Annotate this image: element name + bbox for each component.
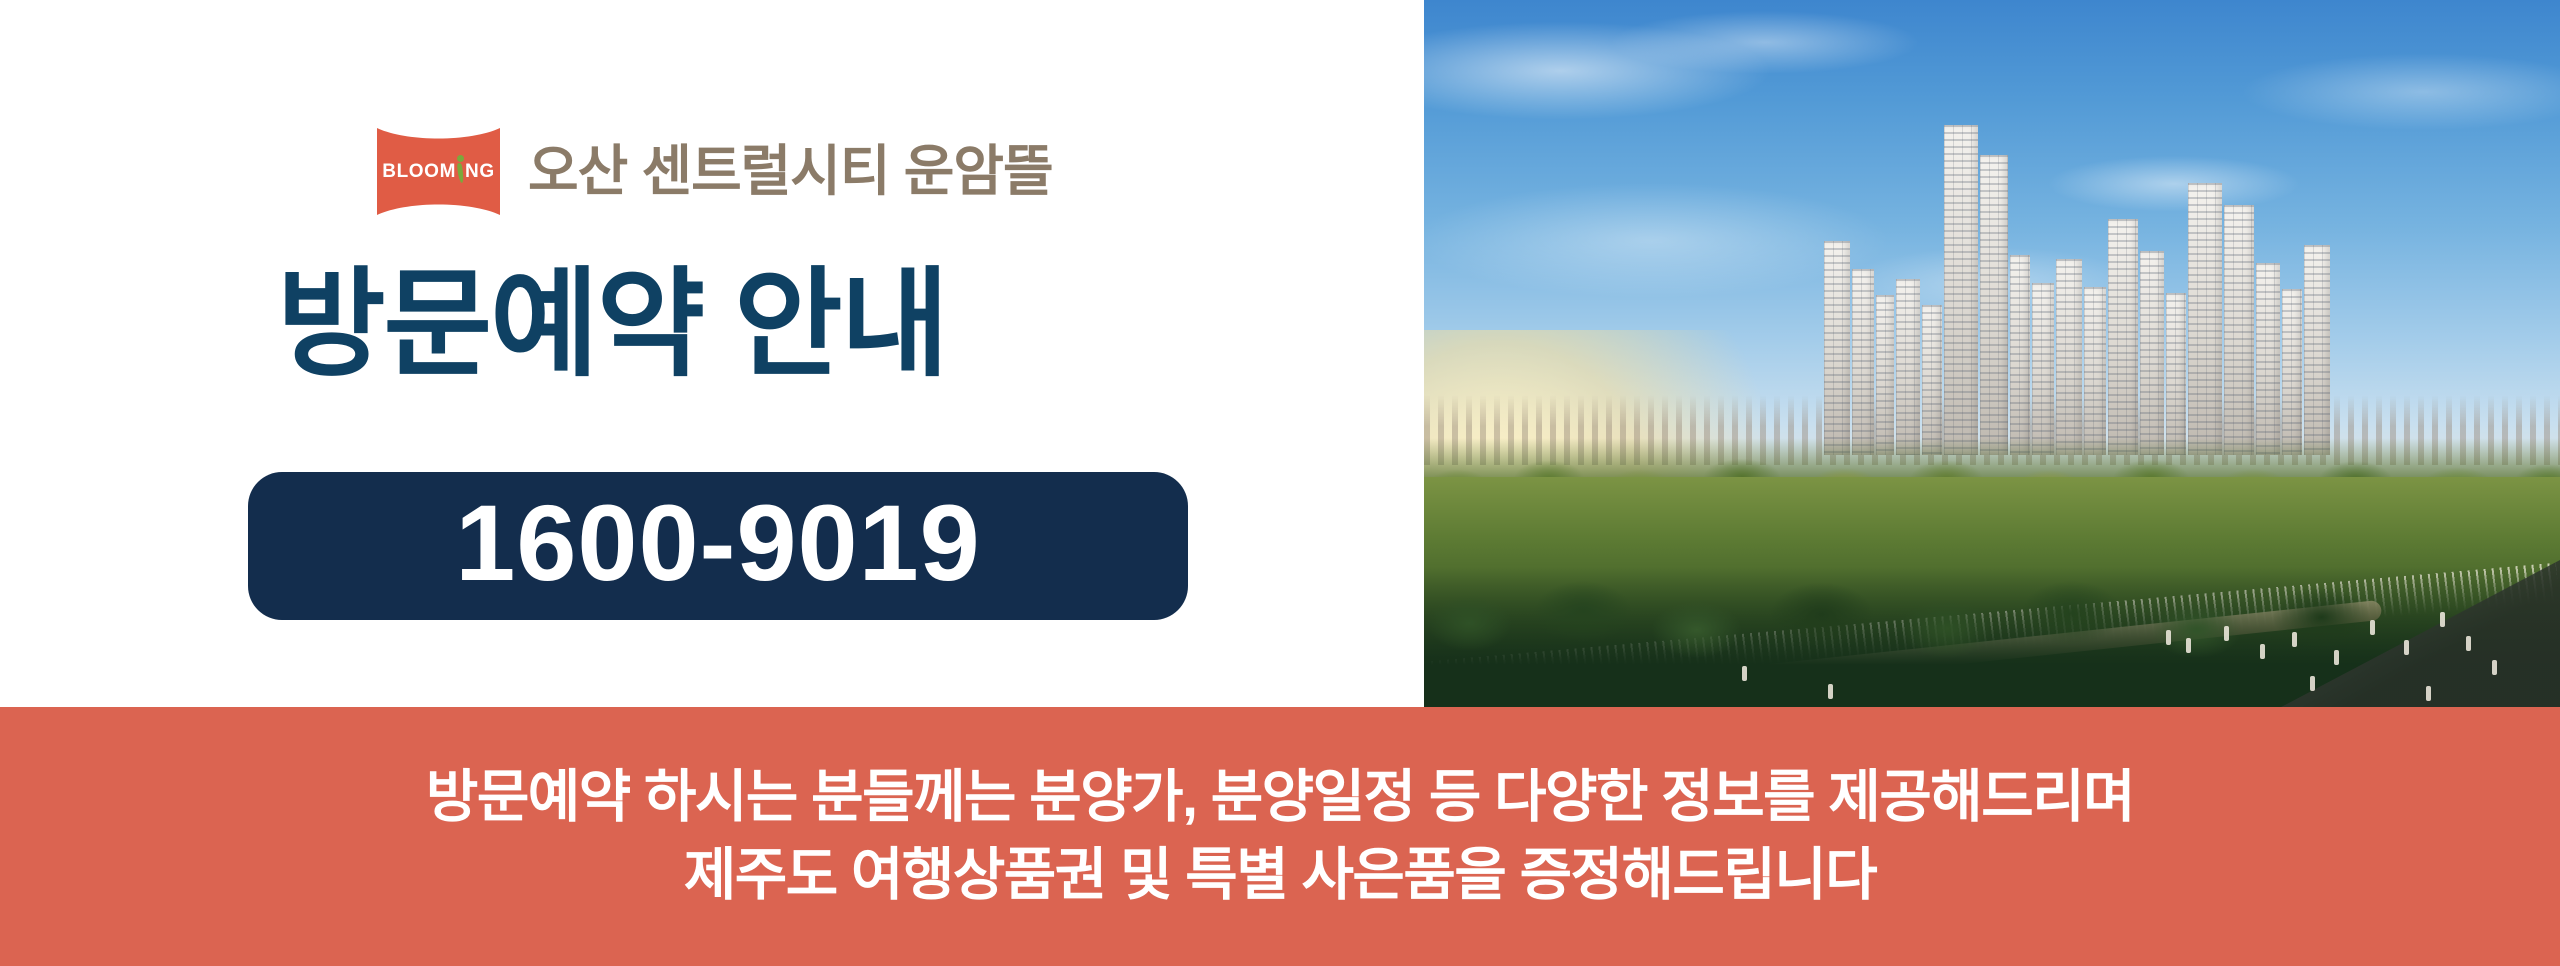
tower (2256, 263, 2280, 455)
tower (2140, 251, 2164, 455)
visit-reservation-banner: BLOOM NG 오산 센트럴시티 운암뜰 방문예약 안내 1600-9019 (0, 0, 2560, 966)
person-figure (2370, 620, 2375, 635)
tower (2032, 283, 2054, 455)
left-info-panel: BLOOM NG 오산 센트럴시티 운암뜰 방문예약 안내 1600-9019 (0, 0, 1424, 707)
person-figure (2260, 644, 2265, 659)
promo-banner: 방문예약 하시는 분들께는 분양가, 분양일정 등 다양한 정보를 제공해드리며… (0, 707, 2560, 966)
tower (1824, 241, 1850, 455)
page-title: 방문예약 안내 (277, 262, 947, 389)
phone-number[interactable]: 1600-9019 (455, 489, 980, 597)
blooming-logo-badge: BLOOM NG (377, 128, 500, 215)
project-rendering-image (1424, 0, 2560, 707)
person-figure (2466, 636, 2471, 651)
tower (2188, 183, 2222, 455)
tower (1922, 305, 1942, 455)
tower (1980, 155, 2008, 455)
tower (1876, 295, 1894, 455)
person-figure (2166, 630, 2171, 645)
tower (2282, 289, 2302, 455)
person-figure (2224, 626, 2229, 641)
tower (2108, 219, 2138, 455)
tower (2010, 255, 2030, 455)
tower (2084, 287, 2106, 455)
project-brand-name: 오산 센트럴시티 운암뜰 (528, 144, 1053, 199)
tower (1944, 125, 1978, 455)
promo-line-2: 제주도 여행상품권 및 특별 사은품을 증정해드립니다 (684, 841, 1876, 911)
person-figure (1828, 684, 1833, 699)
tower (2056, 259, 2082, 455)
top-section: BLOOM NG 오산 센트럴시티 운암뜰 방문예약 안내 1600-9019 (0, 0, 2560, 707)
tower (1896, 279, 1920, 455)
person-figure (2292, 632, 2297, 647)
blooming-wordmark: BLOOM NG (382, 161, 494, 183)
person-figure (2334, 650, 2339, 665)
blooming-word-part1: BLOOM (382, 161, 456, 183)
tower (1852, 269, 1874, 455)
person-figure (2440, 612, 2445, 627)
tower (2166, 293, 2186, 455)
tower (2304, 245, 2330, 455)
tower (2224, 205, 2254, 455)
person-figure (2404, 640, 2409, 655)
blooming-word-part2: NG (465, 161, 495, 183)
promo-line-1: 방문예약 하시는 분들께는 분양가, 분양일정 등 다양한 정보를 제공해드리며 (426, 763, 2134, 833)
person-figure (2310, 676, 2315, 691)
person-figure (1742, 666, 1747, 681)
person-figure (2186, 638, 2191, 653)
person-figure (2426, 686, 2431, 701)
person-figure (2492, 660, 2497, 675)
phone-cta-pill[interactable]: 1600-9019 (248, 472, 1188, 620)
brand-lockup: BLOOM NG 오산 센트럴시티 운암뜰 (377, 128, 1053, 215)
